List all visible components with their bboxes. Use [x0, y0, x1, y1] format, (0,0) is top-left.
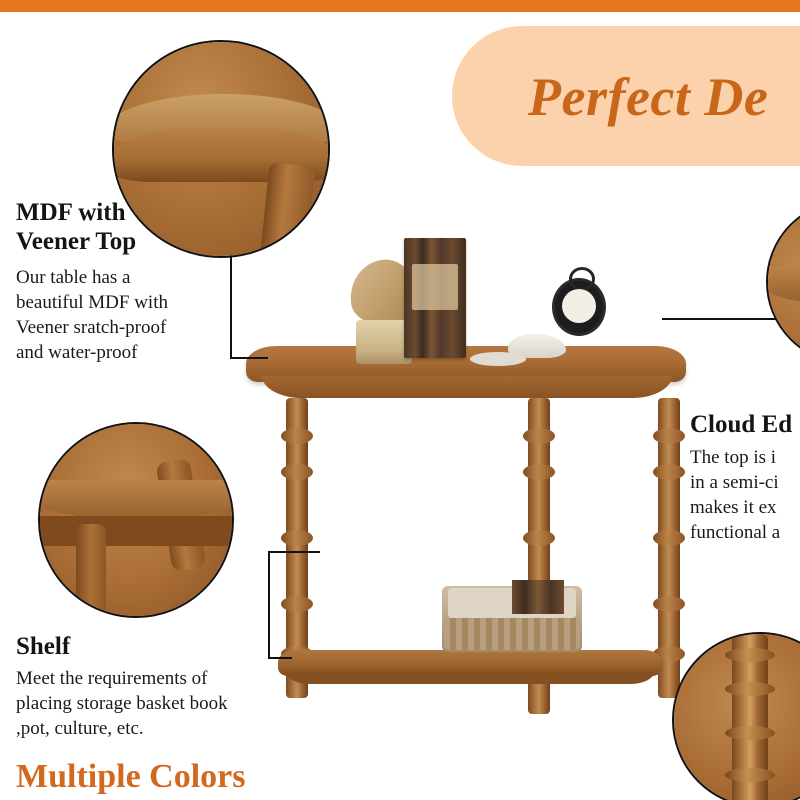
product-infographic-page: Perfect De [0, 0, 800, 800]
lower-shelf-edge [286, 672, 654, 684]
feature-title-shelf: Shelf [16, 632, 70, 661]
tray [470, 352, 526, 366]
leader-line-shelf-v [268, 551, 270, 659]
leader-line-top [230, 240, 232, 358]
bottom-section-title: Multiple Colors [16, 758, 245, 796]
feature-title-cloud-edge: Cloud Ed [690, 410, 792, 439]
top-accent-bar [0, 0, 800, 12]
callout-shelf [38, 422, 234, 618]
basket-books [512, 580, 564, 614]
feature-body-mdf-veneer-top: Our table has a beautiful MDF with Veene… [16, 265, 168, 365]
feature-body-cloud-edge: The top is i in a semi-ci makes it ex fu… [690, 445, 780, 545]
leader-line-top-h [230, 357, 268, 359]
table-apron [262, 376, 672, 398]
books-stack [404, 238, 466, 358]
callout-legs [672, 632, 800, 800]
feature-body-shelf: Meet the requirements of placing storage… [16, 666, 228, 741]
basket-weave [444, 618, 580, 650]
leader-line-shelf-h [268, 551, 320, 553]
leader-line-shelf-h2 [268, 657, 292, 659]
feature-title-mdf-veneer-top: MDF with Veener Top [16, 198, 136, 256]
desk-clock [552, 278, 606, 336]
callout-top-edge [112, 40, 330, 258]
leader-line-right [662, 318, 780, 320]
callout-right-edge [766, 200, 800, 364]
